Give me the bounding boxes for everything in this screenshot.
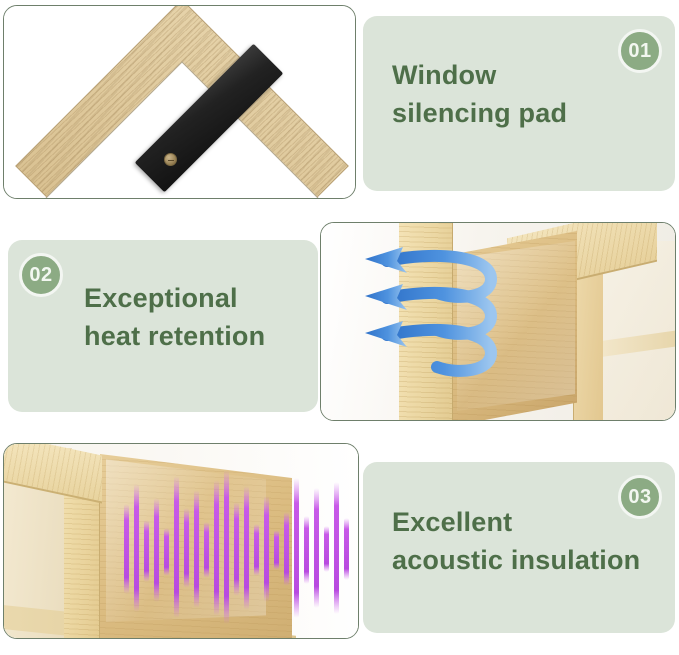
sound-waveform: [124, 462, 356, 634]
feature-2-headline: Exceptional heat retention: [84, 279, 324, 356]
feature-1-headline: Window silencing pad: [392, 56, 662, 133]
feature-1-number-badge: 01: [618, 29, 662, 73]
product-feature-infographic: Window silencing pad 01 02 Exceptional h…: [0, 0, 679, 655]
feature-2-image-panel: [320, 222, 676, 421]
acoustic-insulation-illustration: [4, 444, 358, 638]
heat-flow-arrow-3: [363, 319, 493, 383]
feature-3-image-panel: [3, 443, 359, 639]
feature-3-number-badge: 03: [618, 475, 662, 519]
wood-frame-corner-illustration: [4, 6, 355, 198]
heat-retention-illustration: [321, 223, 675, 420]
screw-icon: [164, 153, 177, 166]
feature-1-image-panel: [3, 5, 356, 199]
feature-2-number-badge: 02: [19, 253, 63, 297]
